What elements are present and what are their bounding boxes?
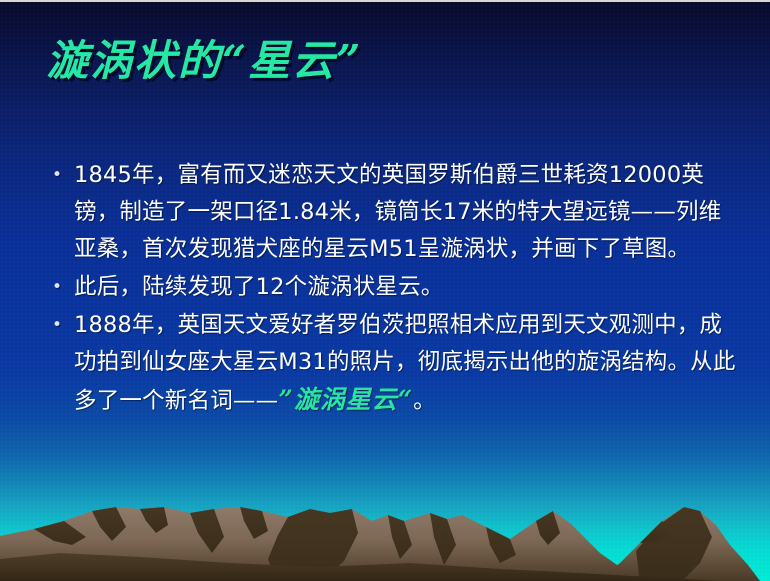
bullet-text-tail: 。 (413, 388, 436, 414)
slide-top-edge-strip (0, 0, 770, 2)
bullet-text: 此后，陆续发现了12个漩涡状星云。 (74, 269, 740, 306)
bullet-text: 1888年，英国天文爱好者罗伯茨把照相术应用到天文观测中，成功拍到仙女座大星云M… (74, 307, 740, 420)
bullet-marker-icon: • (40, 269, 74, 306)
bullet-text: 1845年，富有而又迷恋天文的英国罗斯伯爵三世耗资12000英镑，制造了一架口径… (74, 157, 740, 268)
slide-body-bullet-list: • 1845年，富有而又迷恋天文的英国罗斯伯爵三世耗资12000英镑，制造了一架… (40, 157, 740, 421)
slide-title-block: 漩涡状的“星云” (46, 40, 362, 82)
presentation-slide: 漩涡状的“星云” • 1845年，富有而又迷恋天文的英国罗斯伯爵三世耗资1200… (0, 0, 770, 581)
list-item: • 1888年，英国天文爱好者罗伯茨把照相术应用到天文观测中，成功拍到仙女座大星… (40, 307, 740, 420)
bullet-marker-icon: • (40, 157, 74, 194)
page-title: 漩涡状的“星云” (46, 40, 362, 82)
bullet-marker-icon: • (40, 307, 74, 344)
list-item: • 此后，陆续发现了12个漩涡状星云。 (40, 269, 740, 306)
mountain-range-graphic (0, 441, 770, 581)
bullet-text-accent-term: ”漩涡星云“ (278, 385, 413, 414)
list-item: • 1845年，富有而又迷恋天文的英国罗斯伯爵三世耗资12000英镑，制造了一架… (40, 157, 740, 268)
